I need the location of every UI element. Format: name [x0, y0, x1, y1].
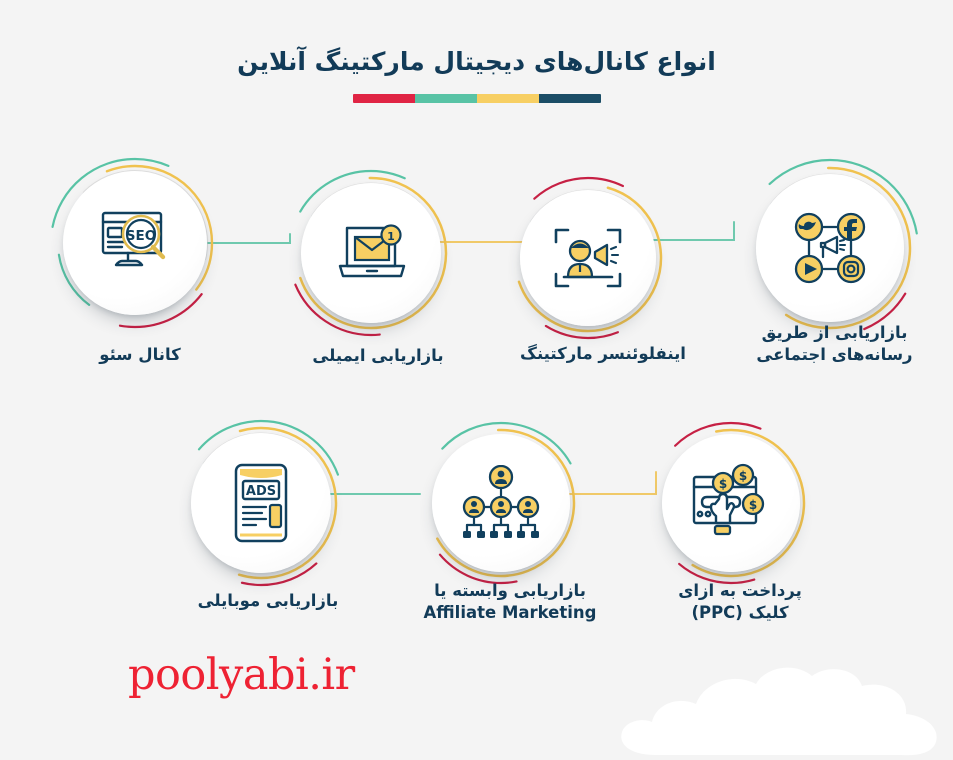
node-label-influencer-marketing: اینفلوئنسر مارکتینگ — [483, 343, 723, 365]
node-mobile-marketing[interactable]: ADS بازاریابی موبایلی — [168, 410, 368, 650]
node-label-seo: کانال سئو — [35, 344, 245, 366]
node-ppc[interactable]: $ $ $ پرداخت به ازای کلیک (PPC) — [640, 412, 840, 662]
background-cloud-decoration — [600, 660, 953, 760]
node-seo[interactable]: SEO کانال سئو — [40, 148, 240, 388]
seo-monitor-magnifier-icon: SEO — [95, 203, 175, 283]
infographic-canvas: انواع کانال‌های دیجیتال مارکتینگ آنلاین — [0, 0, 953, 758]
network-hierarchy-people-icon — [458, 462, 544, 544]
node-influencer-marketing[interactable]: اینفلوئنسر مارکتینگ — [498, 168, 708, 408]
seo-icon-text: SEO — [126, 228, 156, 244]
page-title: انواع کانال‌های دیجیتال مارکتینگ آنلاین — [0, 44, 953, 80]
divider-segment-red — [353, 94, 415, 103]
person-megaphone-frame-icon — [548, 218, 628, 298]
instagram-icon — [838, 256, 864, 282]
site-watermark: poolyabi.ir — [128, 650, 355, 700]
node-label-mobile-marketing: بازاریابی موبایلی — [158, 590, 378, 612]
title-divider-bar — [353, 94, 601, 103]
mobile-ads-icon-text: ADS — [246, 484, 276, 499]
header: انواع کانال‌های دیجیتال مارکتینگ آنلاین — [0, 44, 953, 103]
megaphone-icon — [821, 237, 845, 257]
laptop-envelope-notification-icon: 1 — [331, 212, 413, 294]
divider-segment-navy — [539, 94, 601, 103]
node-social-media-marketing[interactable]: بازاریابی از طریق رسانه‌های اجتماعی — [732, 150, 942, 400]
svg-text:$: $ — [719, 477, 727, 491]
node-affiliate-marketing[interactable]: بازاریابی وابسته یا Affiliate Marketing — [410, 412, 610, 662]
divider-segment-teal — [415, 94, 477, 103]
divider-segment-yellow — [477, 94, 539, 103]
svg-text:$: $ — [749, 498, 757, 512]
node-label-email-marketing: بازاریابی ایمیلی — [268, 345, 488, 367]
smartphone-ads-icon: ADS — [224, 458, 298, 548]
email-badge-count: 1 — [387, 230, 395, 243]
browser-click-hand-coins-icon: $ $ $ — [686, 460, 776, 546]
node-label-ppc: پرداخت به ازای کلیک (PPC) — [632, 580, 848, 624]
node-email-marketing[interactable]: 1 بازاریابی ایمیلی — [278, 160, 478, 400]
node-label-social-media-marketing: بازاریابی از طریق رسانه‌های اجتماعی — [722, 322, 947, 366]
svg-text:$: $ — [739, 469, 747, 483]
node-label-affiliate-marketing: بازاریابی وابسته یا Affiliate Marketing — [385, 580, 635, 624]
social-network-megaphone-icon — [785, 203, 875, 293]
